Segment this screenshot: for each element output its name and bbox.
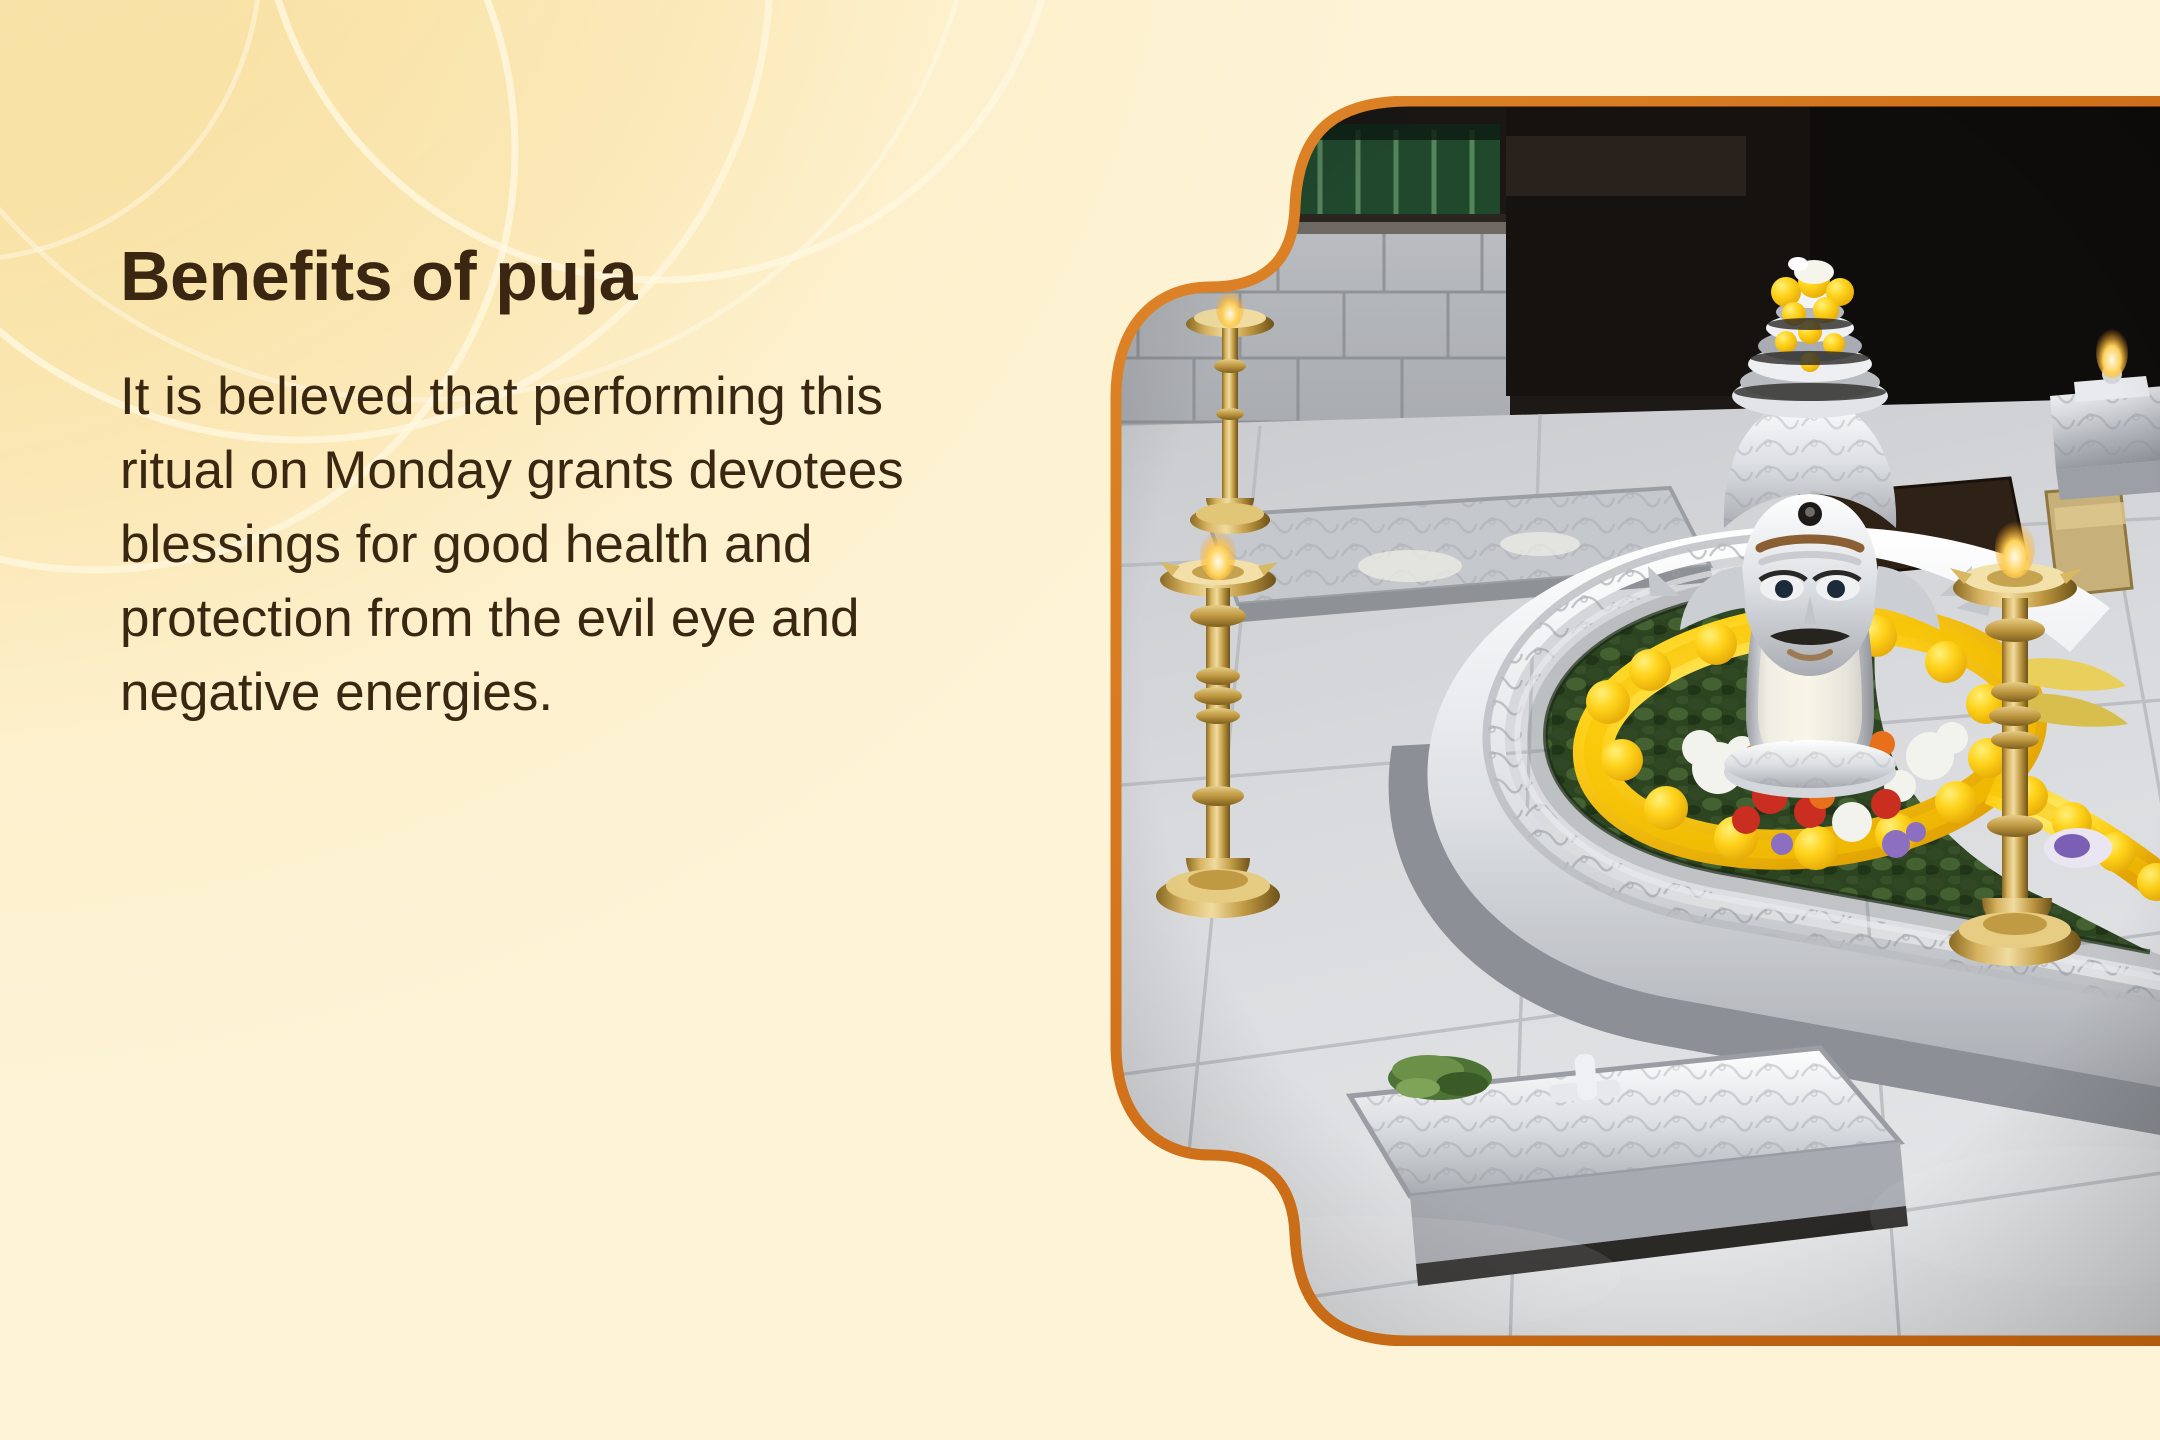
photo-clip bbox=[1110, 96, 2160, 1346]
shrine-photograph bbox=[1110, 96, 2160, 1346]
left-text-column: Benefits of puja It is believed that per… bbox=[120, 240, 950, 730]
shrine-photo-card bbox=[1110, 96, 2160, 1346]
body-paragraph: It is believed that performing this ritu… bbox=[120, 360, 920, 731]
page-title: Benefits of puja bbox=[120, 240, 950, 314]
